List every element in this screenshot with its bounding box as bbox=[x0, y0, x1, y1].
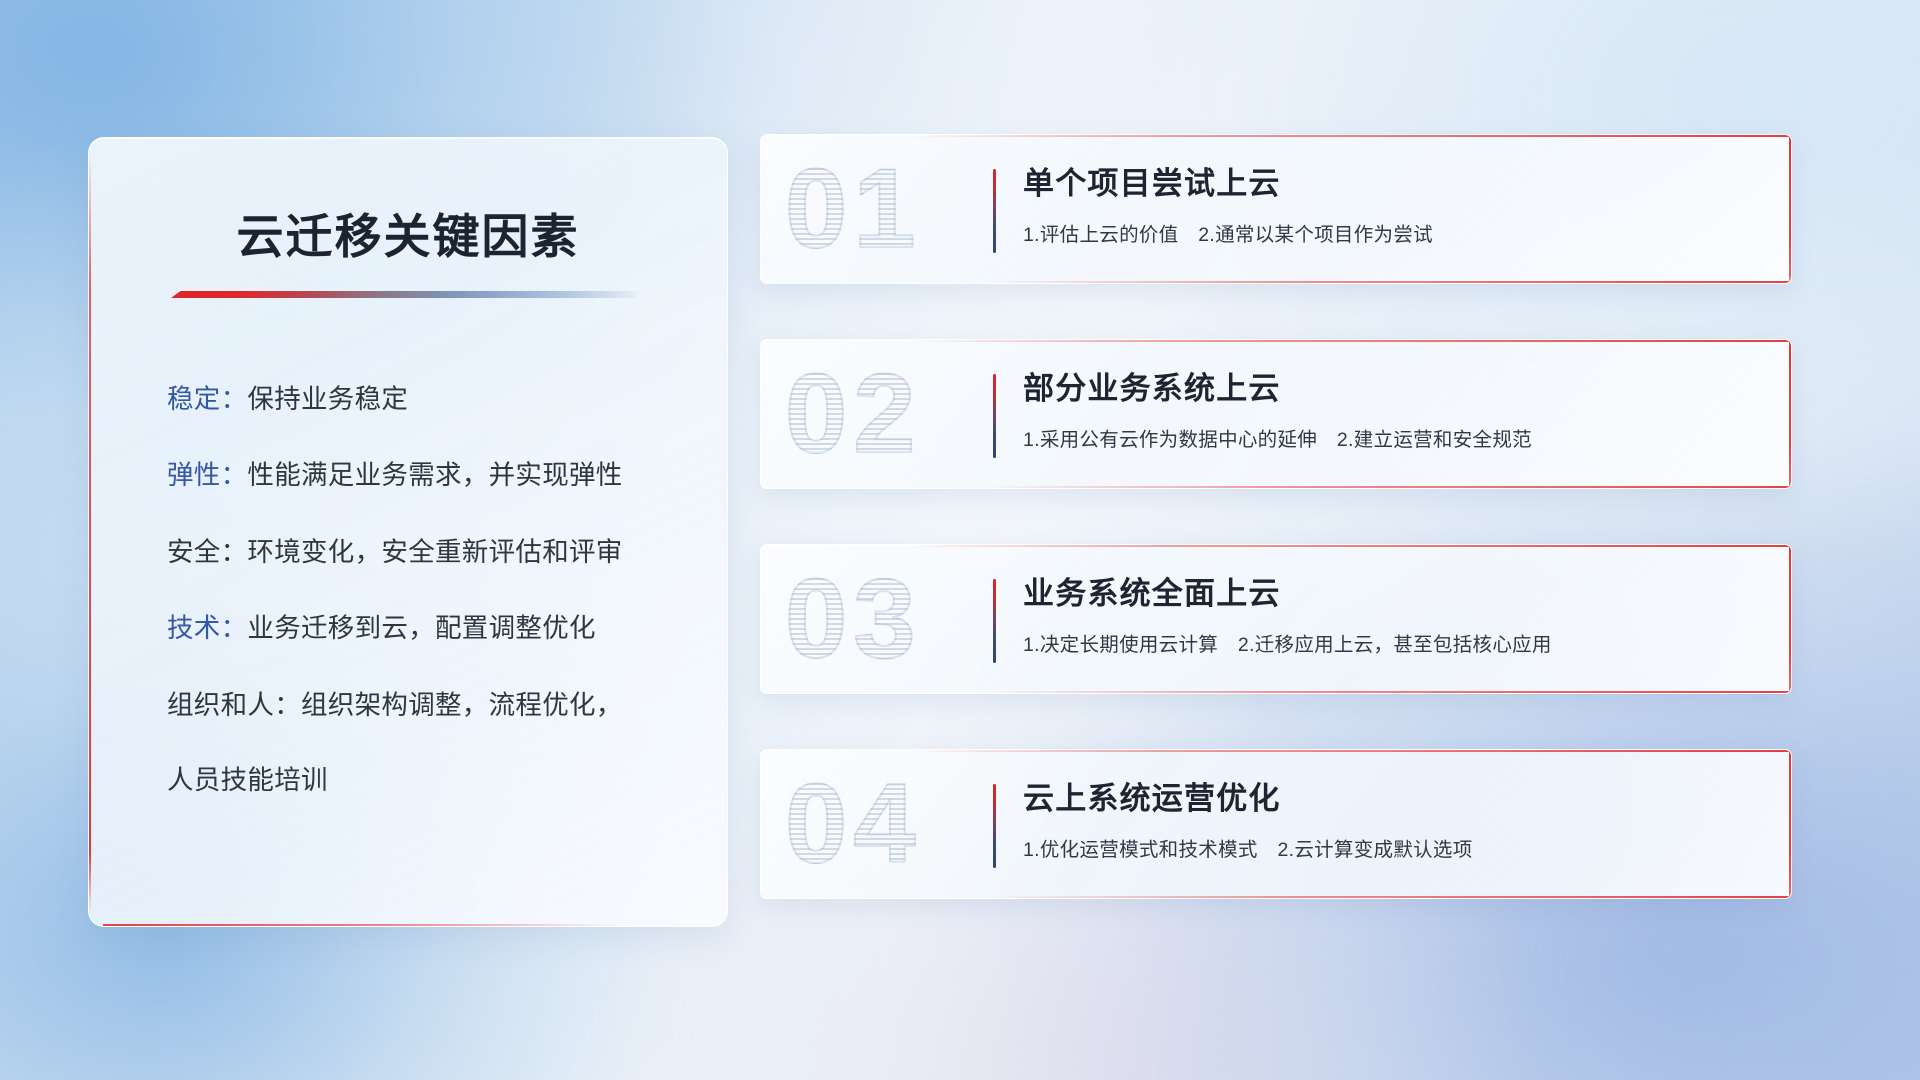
card-right-accent-line bbox=[1789, 340, 1791, 488]
card-top-accent-line bbox=[905, 545, 1791, 547]
factor-label: 稳定： bbox=[167, 384, 247, 414]
stage-title: 单个项目尝试上云 bbox=[1023, 165, 1751, 204]
card-right-accent-line bbox=[1789, 135, 1791, 283]
stage-divider-line bbox=[993, 579, 996, 663]
stage-description: 1.采用公有云作为数据中心的延伸 2.建立运营和安全规范 bbox=[1023, 427, 1751, 454]
stage-content: 部分业务系统上云 1.采用公有云作为数据中心的延伸 2.建立运营和安全规范 bbox=[1023, 370, 1751, 454]
stage-card-02[interactable]: 02 部分业务系统上云 1.采用公有云作为数据中心的延伸 2.建立运营和安全规范 bbox=[760, 339, 1792, 489]
factor-label: 技术： bbox=[167, 613, 247, 643]
key-factors-card: 云迁移关键因素 稳定：保持业务稳定 弹性：性能满足业务需求，并实现弹性 安全：环… bbox=[88, 137, 728, 927]
card-top-accent-line bbox=[905, 135, 1791, 137]
card-top-accent-line bbox=[905, 340, 1791, 342]
card-bottom-accent-line bbox=[988, 896, 1791, 898]
stage-content: 业务系统全面上云 1.决定长期使用云计算 2.迁移应用上云，甚至包括核心应用 bbox=[1023, 575, 1751, 659]
stage-card-04[interactable]: 04 云上系统运营优化 1.优化运营模式和技术模式 2.云计算变成默认选项 bbox=[760, 749, 1792, 899]
list-item: 安全：环境变化，安全重新评估和评审 bbox=[167, 533, 671, 571]
title-underline-gradient bbox=[171, 291, 645, 298]
factor-label: 弹性： bbox=[167, 460, 247, 490]
stage-number-watermark: 02 bbox=[785, 358, 922, 470]
stage-title: 云上系统运营优化 bbox=[1023, 780, 1751, 819]
stage-content: 云上系统运营优化 1.优化运营模式和技术模式 2.云计算变成默认选项 bbox=[1023, 780, 1751, 864]
stage-card-01[interactable]: 01 单个项目尝试上云 1.评估上云的价值 2.通常以某个项目作为尝试 bbox=[760, 134, 1792, 284]
list-item: 稳定：保持业务稳定 bbox=[167, 380, 671, 418]
factor-text: 环境变化，安全重新评估和评审 bbox=[247, 537, 622, 567]
factor-text: 组织架构调整，流程优化， bbox=[301, 690, 623, 720]
list-item: 组织和人：组织架构调整，流程优化， bbox=[167, 686, 671, 724]
factors-list: 稳定：保持业务稳定 弹性：性能满足业务需求，并实现弹性 安全：环境变化，安全重新… bbox=[145, 380, 671, 797]
stage-description: 1.优化运营模式和技术模式 2.云计算变成默认选项 bbox=[1023, 837, 1751, 864]
stage-title: 部分业务系统上云 bbox=[1023, 370, 1751, 409]
factor-text: 性能满足业务需求，并实现弹性 bbox=[247, 460, 622, 490]
list-item: 弹性：性能满足业务需求，并实现弹性 bbox=[167, 456, 671, 494]
card-bottom-accent-line bbox=[988, 691, 1791, 693]
stage-content: 单个项目尝试上云 1.评估上云的价值 2.通常以某个项目作为尝试 bbox=[1023, 165, 1751, 249]
card-right-accent-line bbox=[1789, 750, 1791, 898]
stage-cards-list: 01 单个项目尝试上云 1.评估上云的价值 2.通常以某个项目作为尝试 02 部… bbox=[760, 134, 1792, 899]
stage-description: 1.评估上云的价值 2.通常以某个项目作为尝试 bbox=[1023, 222, 1751, 249]
card-top-accent-line bbox=[905, 750, 1791, 752]
stage-number-watermark: 01 bbox=[785, 153, 922, 265]
stage-number-watermark: 03 bbox=[785, 563, 922, 675]
factor-label: 安全： bbox=[167, 537, 247, 567]
stage-card-03[interactable]: 03 业务系统全面上云 1.决定长期使用云计算 2.迁移应用上云，甚至包括核心应… bbox=[760, 544, 1792, 694]
stage-title: 业务系统全面上云 bbox=[1023, 575, 1751, 614]
factor-label: 组织和人： bbox=[167, 690, 301, 720]
list-item: 技术：业务迁移到云，配置调整优化 bbox=[167, 609, 671, 647]
stage-divider-line bbox=[993, 784, 996, 868]
card-right-accent-line bbox=[1789, 545, 1791, 693]
card-bottom-accent-line bbox=[103, 924, 621, 926]
stage-number-watermark: 04 bbox=[785, 768, 922, 880]
factor-text: 保持业务稳定 bbox=[247, 384, 408, 414]
card-bottom-accent-line bbox=[988, 281, 1791, 283]
factor-text: 业务迁移到云，配置调整优化 bbox=[247, 613, 595, 643]
stage-divider-line bbox=[993, 374, 996, 458]
card-bottom-accent-line bbox=[988, 486, 1791, 488]
factor-text-continuation: 人员技能培训 bbox=[167, 758, 671, 797]
stage-description: 1.决定长期使用云计算 2.迁移应用上云，甚至包括核心应用 bbox=[1023, 632, 1751, 659]
page-title: 云迁移关键因素 bbox=[145, 198, 671, 267]
stage-divider-line bbox=[993, 169, 996, 253]
